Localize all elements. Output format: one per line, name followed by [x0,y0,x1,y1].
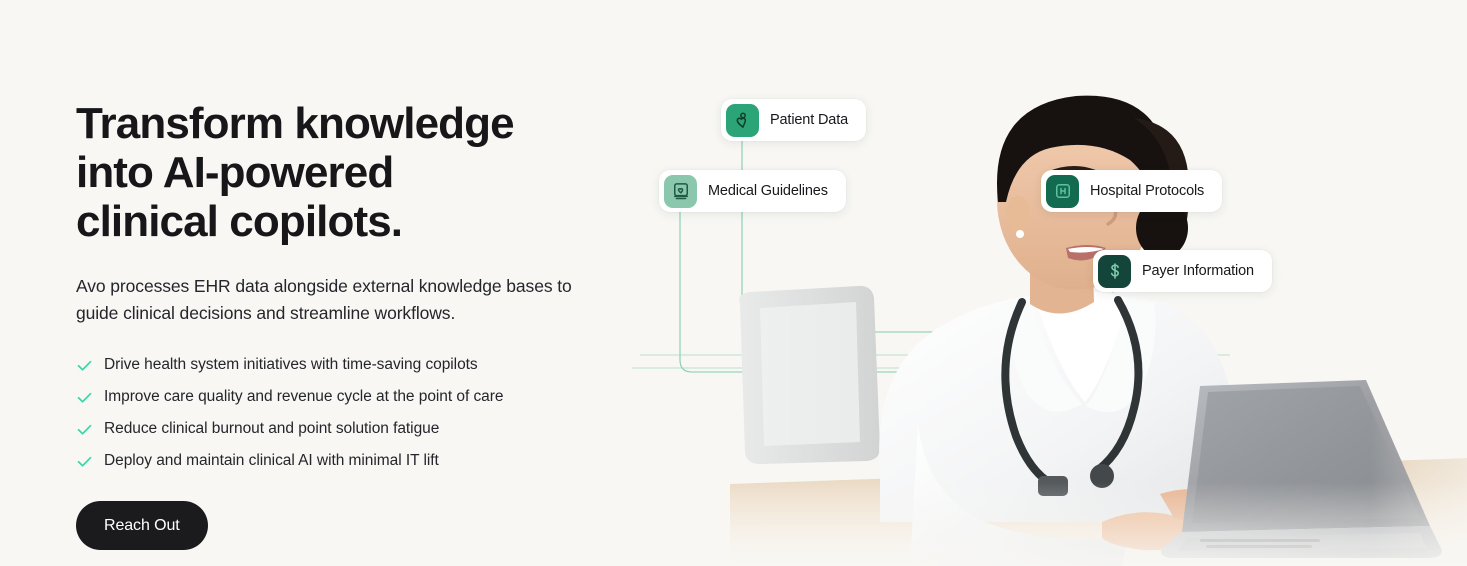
book-heart-icon [664,175,697,208]
hero-section: Patient Data Medical Guidelines Hospital… [0,0,1467,566]
benefit-label: Reduce clinical burnout and point soluti… [104,419,439,439]
check-icon [76,389,93,406]
hero-visual: Patient Data Medical Guidelines Hospital… [620,0,1467,566]
chip-hospital-protocols[interactable]: Hospital Protocols [1041,170,1222,212]
check-icon [76,453,93,470]
benefits-list: Drive health system initiatives with tim… [76,349,616,477]
hero-content: Transform knowledge into AI-powered clin… [76,0,636,566]
hospital-h-icon [1046,175,1079,208]
list-item: Deploy and maintain clinical AI with min… [76,445,616,477]
list-item: Drive health system initiatives with tim… [76,349,616,381]
reach-out-button[interactable]: Reach Out [76,501,208,550]
dollar-sign-icon [1098,255,1131,288]
benefit-label: Drive health system initiatives with tim… [104,355,478,375]
check-icon [76,357,93,374]
chip-label: Payer Information [1142,263,1254,279]
benefit-label: Improve care quality and revenue cycle a… [104,387,503,407]
benefit-label: Deploy and maintain clinical AI with min… [104,451,439,471]
chip-label: Patient Data [770,112,848,128]
chip-payer-information[interactable]: Payer Information [1093,250,1272,292]
patient-heart-icon [726,104,759,137]
check-icon [76,421,93,438]
list-item: Improve care quality and revenue cycle a… [76,381,616,413]
list-item: Reduce clinical burnout and point soluti… [76,413,616,445]
chip-label: Hospital Protocols [1090,183,1204,199]
chip-patient-data[interactable]: Patient Data [721,99,866,141]
chip-label: Medical Guidelines [708,183,828,199]
page-title: Transform knowledge into AI-powered clin… [76,99,616,246]
hero-subcopy: Avo processes EHR data alongside externa… [76,273,601,327]
chip-medical-guidelines[interactable]: Medical Guidelines [659,170,846,212]
